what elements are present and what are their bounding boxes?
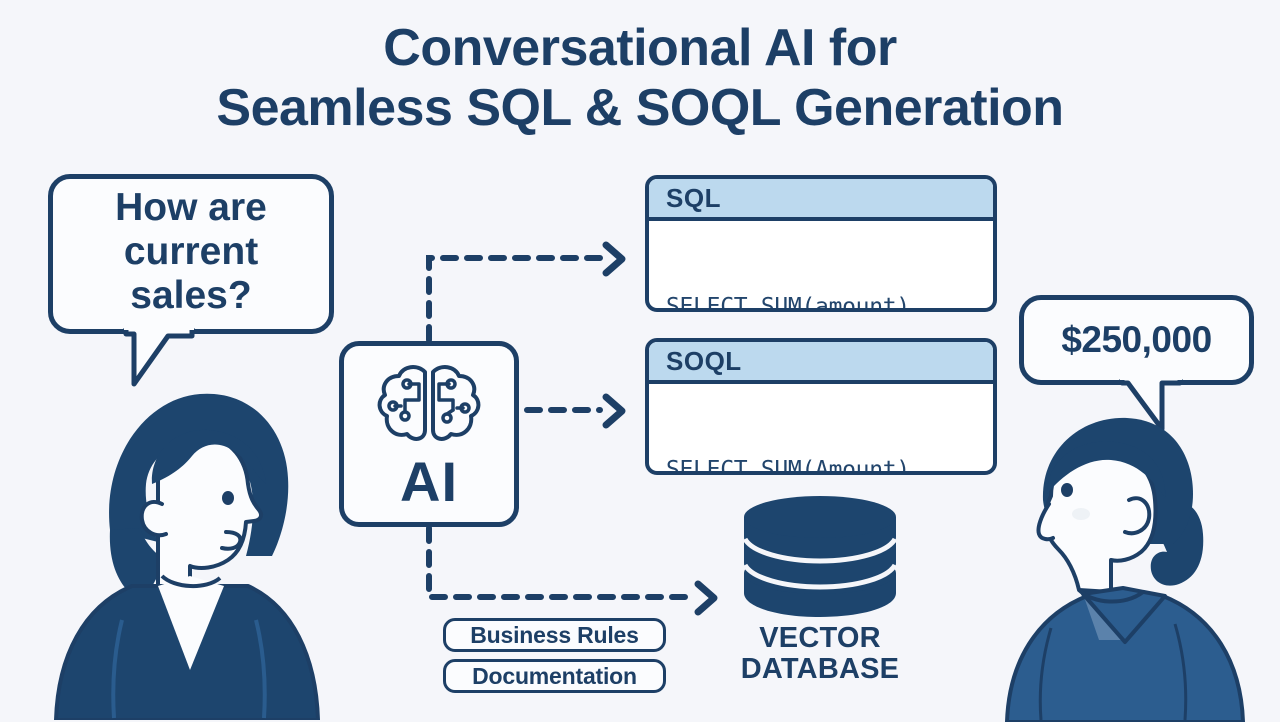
sql-card[interactable]: SQL SELECT SUM(amount) FROM orders bbox=[645, 175, 997, 312]
database-cylinder-icon bbox=[700, 495, 940, 621]
page-title-line-2: Seamless SQL & SOQL Generation bbox=[0, 78, 1280, 138]
page-title-line-1: Conversational AI for bbox=[0, 18, 1280, 78]
soql-card-header: SOQL bbox=[649, 342, 993, 384]
vector-database-label: VECTOR DATABASE bbox=[700, 623, 940, 686]
ai-engine-box[interactable]: AI bbox=[339, 341, 519, 527]
soql-card[interactable]: SOQL SELECT SUM(Amount) FROM Opportunity bbox=[645, 338, 997, 475]
arrow-ai-to-vector-database bbox=[429, 528, 714, 612]
answer-amount: $250,000 bbox=[1061, 319, 1211, 361]
brain-circuit-icon bbox=[375, 360, 483, 452]
soql-card-body: SELECT SUM(Amount) FROM Opportunity bbox=[649, 384, 993, 475]
tag-documentation-label: Documentation bbox=[472, 663, 637, 690]
page-title: Conversational AI for Seamless SQL & SOQ… bbox=[0, 18, 1280, 139]
person-receiver-avatar bbox=[995, 392, 1280, 722]
ai-label: AI bbox=[400, 454, 458, 510]
sql-card-body: SELECT SUM(amount) FROM orders bbox=[649, 221, 993, 312]
arrow-ai-to-soql bbox=[527, 397, 622, 425]
tag-business-rules[interactable]: Business Rules bbox=[443, 618, 666, 652]
arrow-ai-to-sql bbox=[429, 245, 622, 340]
person-asker-avatar bbox=[40, 380, 340, 720]
vector-database[interactable]: VECTOR DATABASE bbox=[700, 495, 940, 720]
sql-card-header: SQL bbox=[649, 179, 993, 221]
answer-speech-bubble: $250,000 bbox=[1019, 295, 1254, 385]
tag-business-rules-label: Business Rules bbox=[470, 622, 639, 649]
question-line-3: sales? bbox=[115, 274, 267, 318]
question-line-2: current bbox=[115, 230, 267, 274]
soql-code-line-1: SELECT SUM(Amount) bbox=[666, 455, 993, 475]
tag-documentation[interactable]: Documentation bbox=[443, 659, 666, 693]
sql-code-line-1: SELECT SUM(amount) bbox=[666, 292, 993, 312]
vector-database-label-line-1: VECTOR bbox=[700, 623, 940, 654]
vector-database-label-line-2: DATABASE bbox=[700, 654, 940, 685]
question-speech-bubble: How are current sales? bbox=[48, 174, 334, 334]
question-line-1: How are bbox=[115, 186, 267, 230]
